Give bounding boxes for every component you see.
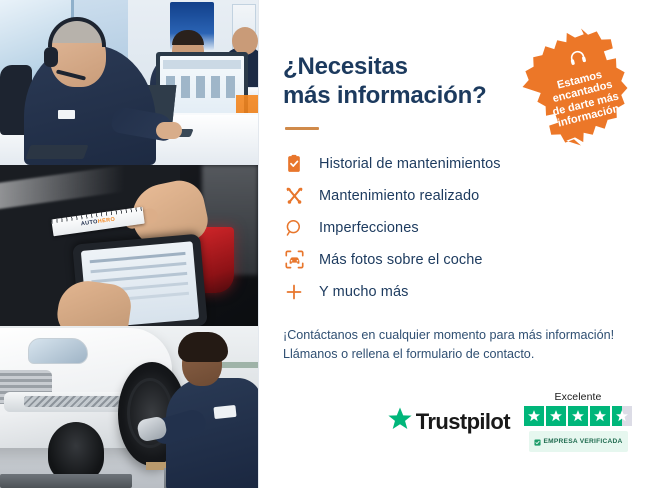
verified-company-badge: EMPRESA VERIFICADA (529, 431, 628, 452)
photo1-agent-one-name-badge (58, 110, 75, 119)
feature-item-more-photos: Más fotos sobre el coche (283, 244, 626, 276)
headline-line-1: ¿Necesitas (283, 53, 408, 80)
photo-mechanic-inspecting-wheel (0, 326, 258, 488)
feature-list: Historial de mantenimientos M (283, 148, 626, 308)
photo-column: AUTOHERO (0, 0, 259, 488)
feature-label: Y mucho más (319, 284, 408, 300)
trustpilot-rating-word: Excelente (524, 391, 632, 403)
title-underline-rule (285, 127, 319, 130)
checklist-document-icon (283, 153, 305, 175)
crossed-tools-icon (283, 185, 305, 207)
verified-company-label: EMPRESA VERIFICADA (544, 438, 623, 445)
star-half-5 (612, 406, 632, 426)
photo3-bumper-vent (24, 396, 124, 407)
photo3-car-lift-ramp (0, 474, 132, 488)
ruler-brand-part1: AUTO (80, 219, 98, 227)
feature-label: Historial de mantenimientos (319, 156, 501, 172)
trustpilot-star-rating (524, 406, 632, 426)
contact-line-1: ¡Contáctanos en cualquier momento para m… (283, 326, 626, 346)
photo3-headlight (28, 338, 88, 364)
promo-starburst-badge: Estamos encantados de darte más informac… (520, 26, 642, 148)
star-filled-2 (546, 406, 566, 426)
headset-icon (566, 46, 590, 74)
photo1-headset-earcup (44, 47, 58, 67)
photo1-desk-tablet (25, 145, 88, 159)
ruler-brand-part2: HERO (97, 216, 115, 224)
feature-item-maintenance-history: Historial de mantenimientos (283, 148, 626, 180)
feature-item-imperfections: Imperfecciones (283, 212, 626, 244)
contact-copy: ¡Contáctanos en cualquier momento para m… (283, 326, 626, 365)
trustpilot-block[interactable]: Trustpilot Excelente (285, 391, 632, 452)
plus-icon (283, 281, 305, 303)
photo-inspection-ruler-on-car: AUTOHERO (0, 165, 258, 326)
promo-banner: AUTOHERO (0, 0, 650, 488)
star-filled-3 (568, 406, 588, 426)
feature-label: Imperfecciones (319, 220, 419, 236)
photo3-mechanic-logo-badge (213, 405, 236, 419)
page-title: ¿Necesitas más información? (283, 52, 513, 111)
trustpilot-logo[interactable]: Trustpilot (387, 406, 510, 437)
photo2-ruler-brand-text: AUTOHERO (80, 216, 115, 227)
car-photo-focus-icon (283, 249, 305, 271)
photo1-agent-three-head (232, 27, 258, 55)
magnifier-icon (283, 217, 305, 239)
feature-label: Más fotos sobre el coche (319, 252, 483, 268)
photo1-agent-one-hand (156, 122, 182, 139)
verified-check-icon (534, 433, 541, 451)
trustpilot-wordmark: Trustpilot (416, 409, 510, 435)
feature-item-much-more: Y mucho más (283, 276, 626, 308)
headline-line-2: más información? (283, 82, 487, 109)
star-filled-4 (590, 406, 610, 426)
trustpilot-star-icon (387, 406, 413, 437)
feature-item-maintenance-done: Mantenimiento realizado (283, 180, 626, 212)
photo3-rear-wheel (48, 422, 104, 482)
photo-call-center-agents-with-headsets (0, 0, 258, 165)
contact-line-2: Llámanos o rellena el formulario de cont… (283, 345, 626, 365)
photo3-mechanic-hair (178, 332, 228, 362)
content-panel: ¿Necesitas más información? Historial de… (259, 0, 650, 488)
trustpilot-rating[interactable]: Excelente (524, 391, 632, 452)
star-filled-1 (524, 406, 544, 426)
feature-label: Mantenimiento realizado (319, 188, 479, 204)
